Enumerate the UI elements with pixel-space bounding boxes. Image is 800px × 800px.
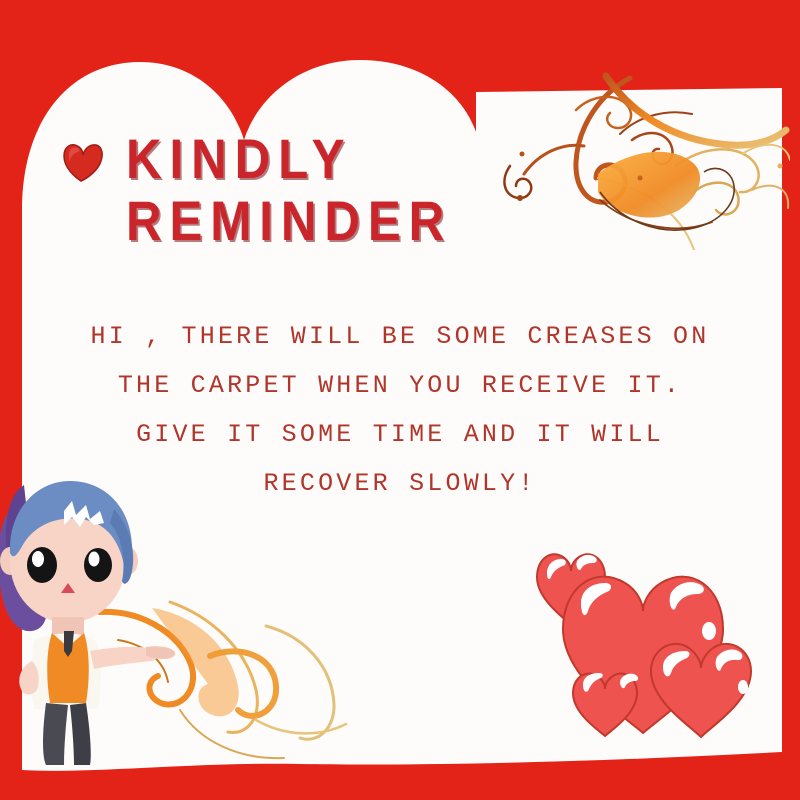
message-line: RECOVER SLOWLY! [40,459,760,508]
reminder-card-canvas: KINDLY REMINDER HI , THERE WILL BE SOME … [0,0,800,800]
message-line: HI , THERE WILL BE SOME CREASES ON [40,312,760,361]
page-title: KINDLY REMINDER [126,128,452,252]
message-line: GIVE IT SOME TIME AND IT WILL [40,410,760,459]
title-block: KINDLY REMINDER [60,128,720,252]
heart-icon [60,142,104,182]
message-line: THE CARPET WHEN YOU RECEIVE IT. [40,361,760,410]
message-block: HI , THERE WILL BE SOME CREASES ON THE C… [40,312,760,508]
card-content: KINDLY REMINDER HI , THERE WILL BE SOME … [0,0,800,800]
title-row: KINDLY REMINDER [60,128,720,252]
